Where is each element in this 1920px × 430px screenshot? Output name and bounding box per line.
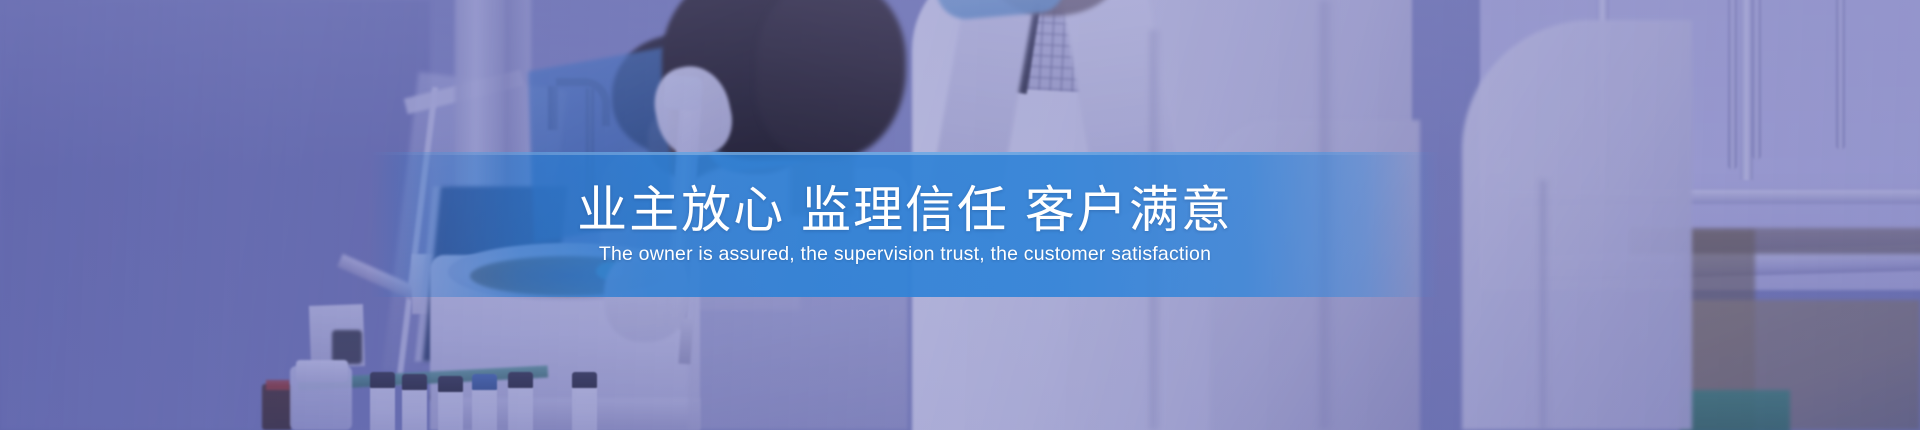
slogan-headline: 业主放心 监理信任 客户满意 bbox=[577, 183, 1233, 237]
slogan-subheadline: The owner is assured, the supervision tr… bbox=[599, 243, 1211, 266]
slogan-text-group: 业主放心 监理信任 客户满意 The owner is assured, the… bbox=[370, 152, 1440, 297]
hero-banner: 业主放心 监理信任 客户满意 The owner is assured, the… bbox=[0, 0, 1920, 430]
